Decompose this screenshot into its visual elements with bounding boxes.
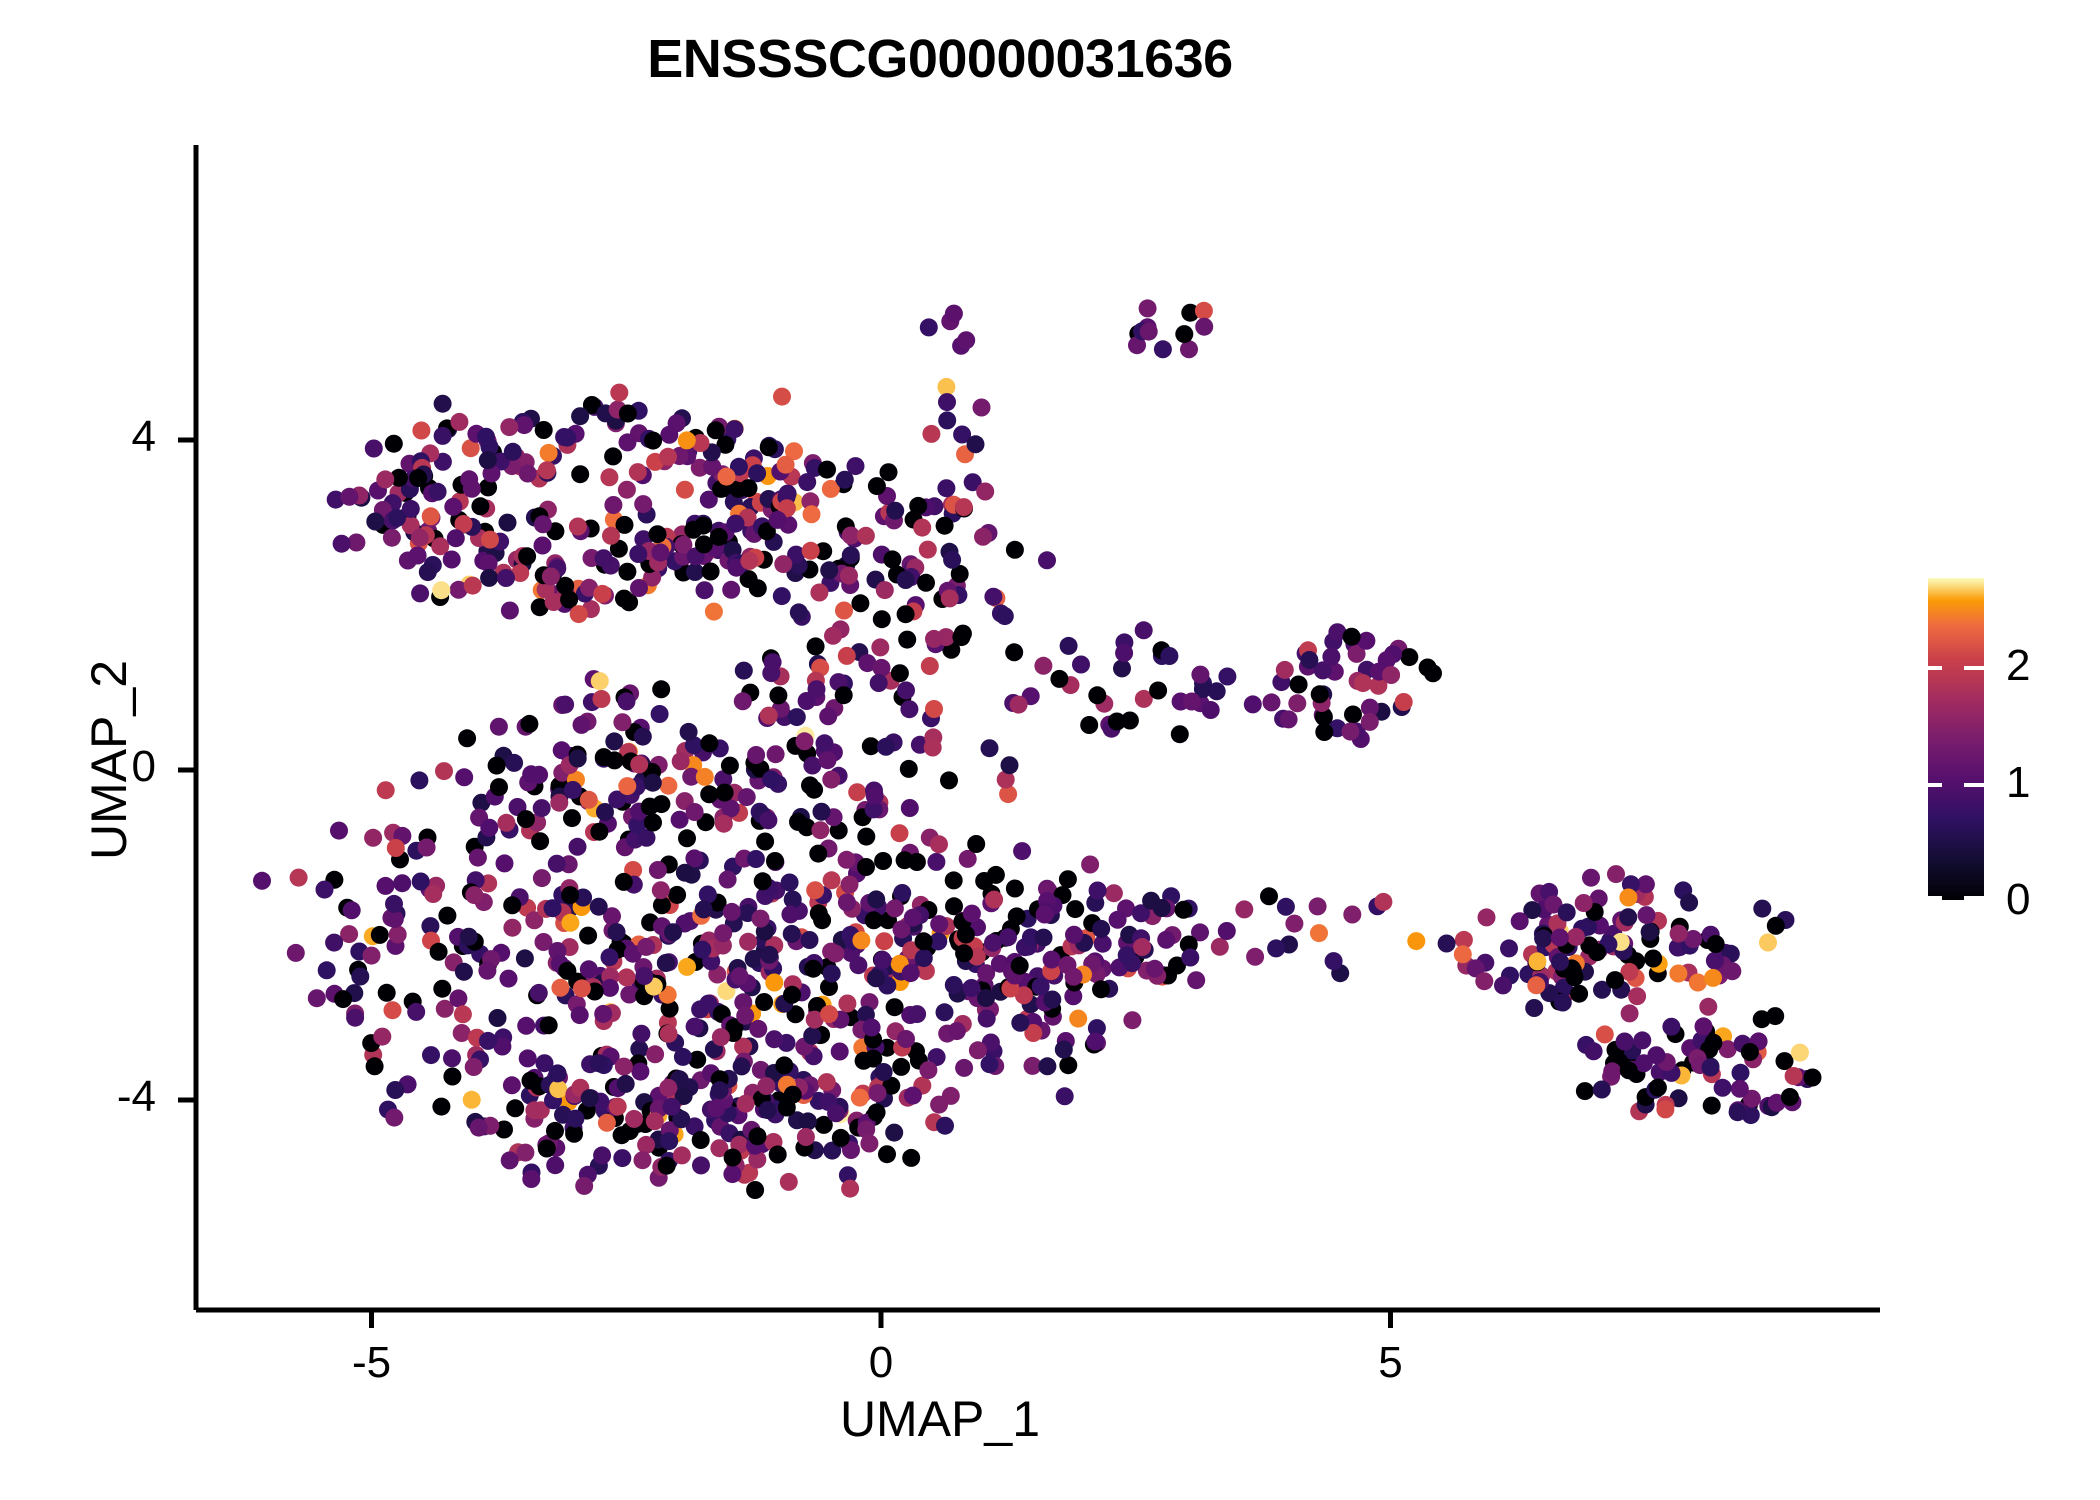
scatter-point [902, 964, 920, 982]
scatter-point [517, 810, 535, 828]
scatter-point [590, 1054, 608, 1072]
scatter-point [1135, 621, 1153, 639]
scatter-point [630, 579, 648, 597]
scatter-point [1080, 716, 1098, 734]
scatter-point [1558, 903, 1576, 921]
scatter-point [891, 824, 909, 842]
scatter-point [820, 561, 838, 579]
scatter-point [836, 471, 854, 489]
scatter-point [1729, 1103, 1747, 1121]
scatter-point [883, 550, 901, 568]
scatter-point [707, 1099, 725, 1117]
scatter-point [1621, 1004, 1639, 1022]
scatter-point [865, 911, 883, 929]
scatter-point [816, 734, 834, 752]
scatter-point [333, 535, 351, 553]
scatter-point [873, 659, 891, 677]
scatter-point [726, 420, 744, 438]
scatter-point [897, 1030, 915, 1048]
scatter-point [740, 479, 758, 497]
scatter-point [387, 839, 405, 857]
scatter-point [878, 1145, 896, 1163]
scatter-point [376, 470, 394, 488]
scatter-point [790, 603, 808, 621]
scatter-point [904, 1087, 922, 1105]
scatter-point [945, 871, 963, 889]
scatter-point [346, 1009, 364, 1027]
scatter-point [506, 1099, 524, 1117]
scatter-point [1567, 928, 1585, 946]
scatter-point [978, 1010, 996, 1028]
scatter-point [330, 822, 348, 840]
scatter-point [762, 770, 780, 788]
scatter-point [479, 451, 497, 469]
scatter-point [924, 739, 942, 757]
scatter-point [866, 787, 884, 805]
scatter-point [1699, 998, 1717, 1016]
scatter-point [976, 483, 994, 501]
scatter-point [571, 1006, 589, 1024]
scatter-point [522, 1170, 540, 1188]
scatter-point [1065, 968, 1083, 986]
scatter-point [871, 638, 889, 656]
scatter-point [644, 774, 662, 792]
scatter-point [500, 418, 518, 436]
scatter-point [1288, 694, 1306, 712]
axis-lines [196, 145, 1880, 1310]
scatter-point [1175, 901, 1193, 919]
scatter-point [1036, 906, 1054, 924]
scatter-point [644, 432, 662, 450]
scatter-point [325, 934, 343, 952]
x-axis-title: UMAP_1 [0, 1390, 1880, 1448]
scatter-point [973, 399, 991, 417]
scatter-point [832, 1129, 850, 1147]
scatter-point [660, 426, 678, 444]
scatter-point [831, 1043, 849, 1061]
scatter-point [863, 1019, 881, 1037]
scatter-point [686, 563, 704, 581]
scatter-point [808, 680, 826, 698]
scatter-point [657, 954, 675, 972]
scatter-point [1089, 882, 1107, 900]
scatter-point [497, 569, 515, 587]
scatter-point [1804, 1069, 1822, 1087]
scatter-point [822, 771, 840, 789]
scatter-point [580, 791, 598, 809]
scatter-point [634, 495, 652, 513]
scatter-point [1551, 953, 1569, 971]
scatter-point [1616, 1033, 1634, 1051]
scatter-point [531, 832, 549, 850]
scatter-point [546, 1156, 564, 1174]
scatter-point [1311, 685, 1329, 703]
scatter-point [1069, 1010, 1087, 1028]
scatter-point [340, 488, 358, 506]
scatter-point [702, 563, 720, 581]
scatter-point [722, 581, 740, 599]
scatter-point [660, 1025, 678, 1043]
scatter-point [893, 884, 911, 902]
scatter-point [1649, 1079, 1667, 1097]
scatter-point [618, 692, 636, 710]
scatter-point [752, 910, 770, 928]
scatter-point [593, 585, 611, 603]
scatter-point [1276, 661, 1294, 679]
scatter-point [637, 1136, 655, 1154]
scatter-point [749, 579, 767, 597]
scatter-plot-area [0, 0, 2100, 1500]
scatter-point [716, 784, 734, 802]
scatter-point [1277, 898, 1295, 916]
scatter-point [604, 447, 622, 465]
scatter-point [434, 395, 452, 413]
scatter-point [981, 739, 999, 757]
scatter-point [919, 1061, 937, 1079]
scatter-point [1290, 676, 1308, 694]
scatter-point [696, 768, 714, 786]
scatter-point [460, 928, 478, 946]
x-tick-label-5: 5 [1311, 1338, 1471, 1388]
scatter-point [1606, 971, 1624, 989]
scatter-point [807, 637, 825, 655]
scatter-point [569, 750, 587, 768]
scatter-point [1065, 926, 1083, 944]
scatter-point [1759, 934, 1777, 952]
scatter-point [253, 872, 271, 890]
scatter-point [393, 874, 411, 892]
scatter-point [867, 890, 885, 908]
scatter-point [788, 708, 806, 726]
scatter-point [548, 855, 566, 873]
scatter-point [1731, 1080, 1749, 1098]
scatter-point [659, 777, 677, 795]
scatter-point [519, 465, 537, 483]
scatter-point [500, 970, 518, 988]
scatter-point [1160, 647, 1178, 665]
scatter-point [1309, 897, 1327, 915]
scatter-point [984, 588, 1002, 606]
scatter-point [573, 979, 591, 997]
scatter-point [851, 594, 869, 612]
scatter-point [418, 839, 436, 857]
scatter-point [938, 393, 956, 411]
scatter-point [569, 838, 587, 856]
scatter-point [1246, 948, 1264, 966]
scatter-point [1588, 943, 1606, 961]
scatter-point [1703, 1097, 1721, 1115]
scatter-point [1753, 900, 1771, 918]
scatter-point [1235, 900, 1253, 918]
scatter-point [811, 821, 829, 839]
scatter-point [1191, 666, 1209, 684]
scatter-point [1603, 1062, 1621, 1080]
scatter-point [891, 664, 909, 682]
scatter-point [760, 438, 778, 456]
scatter-point [538, 1140, 556, 1158]
scatter-point [534, 537, 552, 555]
scatter-point [711, 1081, 729, 1099]
scatter-point [823, 871, 841, 889]
scatter-point [692, 1131, 710, 1149]
scatter-point [455, 963, 473, 981]
scatter-point [901, 799, 919, 817]
scatter-point [569, 518, 587, 536]
scatter-point [957, 926, 975, 944]
scatter-point [747, 746, 765, 764]
scatter-point [759, 1101, 777, 1119]
scatter-point [885, 1124, 903, 1142]
scatter-point [1576, 1082, 1594, 1100]
scatter-point [610, 384, 628, 402]
scatter-point [945, 305, 963, 323]
scatter-point [663, 1098, 681, 1116]
scatter-point [556, 696, 574, 714]
scatter-point [1325, 952, 1343, 970]
scatter-point [1500, 939, 1518, 957]
scatter-point [715, 815, 733, 833]
scatter-point [797, 1128, 815, 1146]
scatter-point [1263, 693, 1281, 711]
scatter-point [749, 1020, 767, 1038]
scatter-point [463, 1091, 481, 1109]
colorbar-label-0: 0 [2006, 875, 2030, 925]
scatter-point [496, 854, 514, 872]
scatter-point [480, 569, 498, 587]
scatter-point [700, 785, 718, 803]
scatter-point [1146, 960, 1164, 978]
scatter-point [804, 960, 822, 978]
scatter-point [443, 1068, 461, 1086]
scatter-point [943, 551, 961, 569]
scatter-point [747, 850, 765, 868]
scatter-point [525, 1101, 543, 1119]
scatter-point [558, 429, 576, 447]
scatter-point [1202, 701, 1220, 719]
scatter-point [479, 1032, 497, 1050]
scatter-point [824, 627, 842, 645]
scatter-point [849, 956, 867, 974]
scatter-point [1525, 999, 1543, 1017]
scatter-point [1195, 318, 1213, 336]
scatter-point [516, 949, 534, 967]
scatter-point [1081, 856, 1099, 874]
scatter-point [658, 1157, 676, 1175]
scatter-point [660, 1132, 678, 1150]
scatter-point [1153, 899, 1171, 917]
scatter-point [967, 435, 985, 453]
scatter-point [835, 686, 853, 704]
scatter-point [857, 828, 875, 846]
scatter-point [385, 435, 403, 453]
scatter-point [981, 1055, 999, 1073]
scatter-point [767, 745, 785, 763]
scatter-point [447, 529, 465, 547]
scatter-point [630, 755, 648, 773]
scatter-point [1013, 842, 1031, 860]
scatter-point [827, 1104, 845, 1122]
scatter-point [823, 965, 841, 983]
scatter-point [1343, 628, 1361, 646]
scatter-point [571, 465, 589, 483]
scatter-point [803, 1027, 821, 1045]
scatter-point [600, 468, 618, 486]
scatter-point [608, 923, 626, 941]
scatter-point [377, 781, 395, 799]
scatter-point [1791, 1044, 1809, 1062]
scatter-point [443, 551, 461, 569]
scatter-point [734, 692, 752, 710]
scatter-point [930, 835, 948, 853]
scatter-point [678, 431, 696, 449]
scatter-point [551, 979, 569, 997]
scatter-point [570, 605, 588, 623]
scatter-point [802, 542, 820, 560]
scatter-point [773, 587, 791, 605]
scatter-point [963, 905, 981, 923]
scatter-point [561, 886, 579, 904]
scatter-point [371, 926, 389, 944]
scatter-point [838, 851, 856, 869]
scatter-point [637, 938, 655, 956]
scatter-point [1354, 674, 1372, 692]
scatter-point [503, 1076, 521, 1094]
scatter-point [736, 1007, 754, 1025]
scatter-point [707, 421, 725, 439]
scatter-point [952, 628, 970, 646]
scatter-point [1322, 648, 1340, 666]
scatter-point [1494, 976, 1512, 994]
scatter-point [1680, 894, 1698, 912]
scatter-point [1105, 884, 1123, 902]
x-tick-label-0: 0 [801, 1338, 961, 1388]
scatter-point [746, 1181, 764, 1199]
scatter-point [619, 433, 637, 451]
scatter-point [963, 979, 981, 997]
scatter-point [619, 405, 637, 423]
scatter-point [444, 498, 462, 516]
scatter-point [542, 568, 560, 586]
scatter-point [673, 1146, 691, 1164]
scatter-point [505, 754, 523, 772]
scatter-point [789, 813, 807, 831]
scatter-point [435, 762, 453, 780]
scatter-point [857, 858, 875, 876]
scatter-point [985, 891, 1003, 909]
scatter-point [438, 907, 456, 925]
scatter-point [618, 563, 636, 581]
scatter-point [1670, 925, 1688, 943]
scatter-point [851, 1089, 869, 1107]
scatter-point [922, 425, 940, 443]
scatter-point [852, 931, 870, 949]
scatter-point [465, 1058, 483, 1076]
scatter-point [919, 541, 937, 559]
scatter-point [1244, 695, 1262, 713]
scatter-point [668, 886, 686, 904]
scatter-point [874, 951, 892, 969]
scatter-point [955, 1059, 973, 1077]
scatter-point [819, 707, 837, 725]
scatter-point [684, 521, 702, 539]
scatter-point [868, 477, 886, 495]
scatter-point [1714, 1079, 1732, 1097]
scatter-point [857, 527, 875, 545]
scatter-point [1695, 1017, 1713, 1035]
scatter-point [409, 469, 427, 487]
scatter-point [538, 461, 556, 479]
scatter-point [1374, 893, 1392, 911]
scatter-point [432, 1098, 450, 1116]
scatter-point [1741, 1043, 1759, 1061]
scatter-point [424, 885, 442, 903]
scatter-point [377, 877, 395, 895]
scatter-point [1038, 551, 1056, 569]
scatter-point [581, 1089, 599, 1107]
scatter-point [365, 440, 383, 458]
scatter-point [501, 1151, 519, 1169]
scatter-point [712, 1028, 730, 1046]
scatter-point [686, 803, 704, 821]
scatter-point [591, 672, 609, 690]
y-tick-label--4: -4 [36, 1072, 156, 1122]
scatter-point [1662, 1018, 1680, 1036]
scatter-point [419, 563, 437, 581]
scatter-point [343, 901, 361, 919]
scatter-point [613, 713, 631, 731]
scatter-point [1005, 643, 1023, 661]
scatter-point [723, 903, 741, 921]
scatter-point [558, 962, 576, 980]
scatter-point [609, 1098, 627, 1116]
scatter-point [801, 931, 819, 949]
scatter-point [757, 1077, 775, 1095]
scatter-point [686, 1018, 704, 1036]
scatter-point [1118, 946, 1136, 964]
scatter-point [1043, 991, 1061, 1009]
scatter-point [1056, 1087, 1074, 1105]
scatter-point [908, 853, 926, 871]
scatter-point [723, 1165, 741, 1183]
scatter-point [1154, 340, 1172, 358]
scatter-point [540, 444, 558, 462]
scatter-point [388, 509, 406, 527]
scatter-point [550, 794, 568, 812]
scatter-point [1072, 656, 1090, 674]
scatter-point [869, 1084, 887, 1102]
scatter-point [898, 631, 916, 649]
scatter-point [1218, 668, 1236, 686]
scatter-point [1361, 713, 1379, 731]
scatter-point [516, 1144, 534, 1162]
scatter-point [1140, 323, 1158, 341]
scatter-point [1055, 1041, 1073, 1059]
scatter-point [909, 497, 927, 515]
scatter-point [477, 428, 495, 446]
scatter-point [714, 924, 732, 942]
scatter-point [860, 1135, 878, 1153]
scatter-point [1593, 1081, 1611, 1099]
scatter-point [781, 874, 799, 892]
scatter-point [722, 799, 740, 817]
scatter-point [1776, 1052, 1794, 1070]
scatter-point [1108, 713, 1126, 731]
scatter-point [1644, 950, 1662, 968]
scatter-point [287, 944, 305, 962]
scatter-point [366, 513, 384, 531]
scatter-point [635, 967, 653, 985]
scatter-point [826, 945, 844, 963]
